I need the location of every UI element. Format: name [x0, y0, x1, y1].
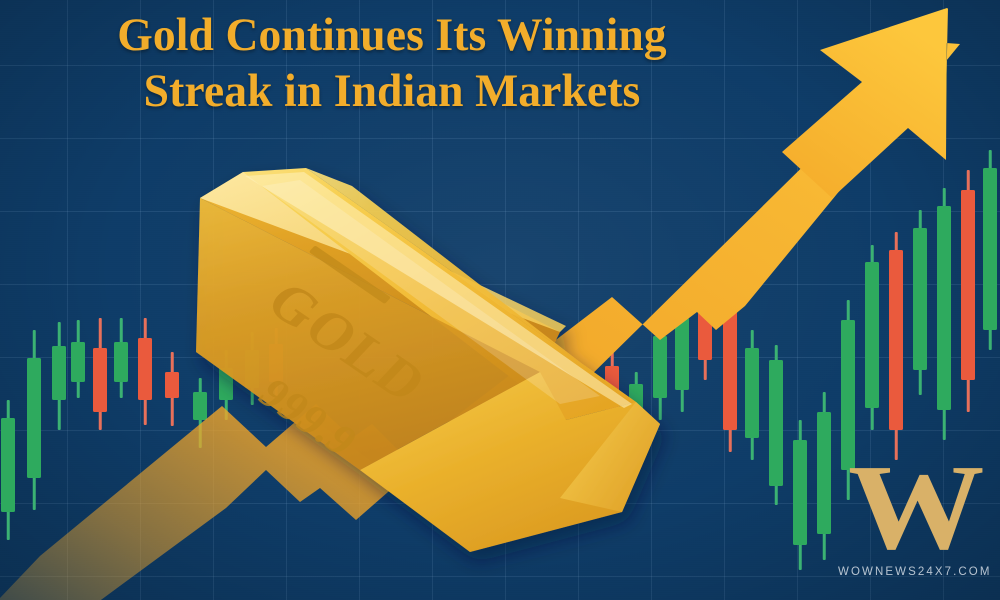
logo-url-text: WOWNEWS24X7.COM: [838, 566, 990, 578]
logo-monogram-w: W: [829, 452, 999, 564]
logo[interactable]: W WOWNEWS24X7.COM: [838, 452, 990, 578]
brand-watermark: W WOWNEWS24X7.COM: [0, 0, 1000, 600]
graphic-canvas: GOLD 999.9 Gold Continues Its Winning St…: [0, 0, 1000, 600]
